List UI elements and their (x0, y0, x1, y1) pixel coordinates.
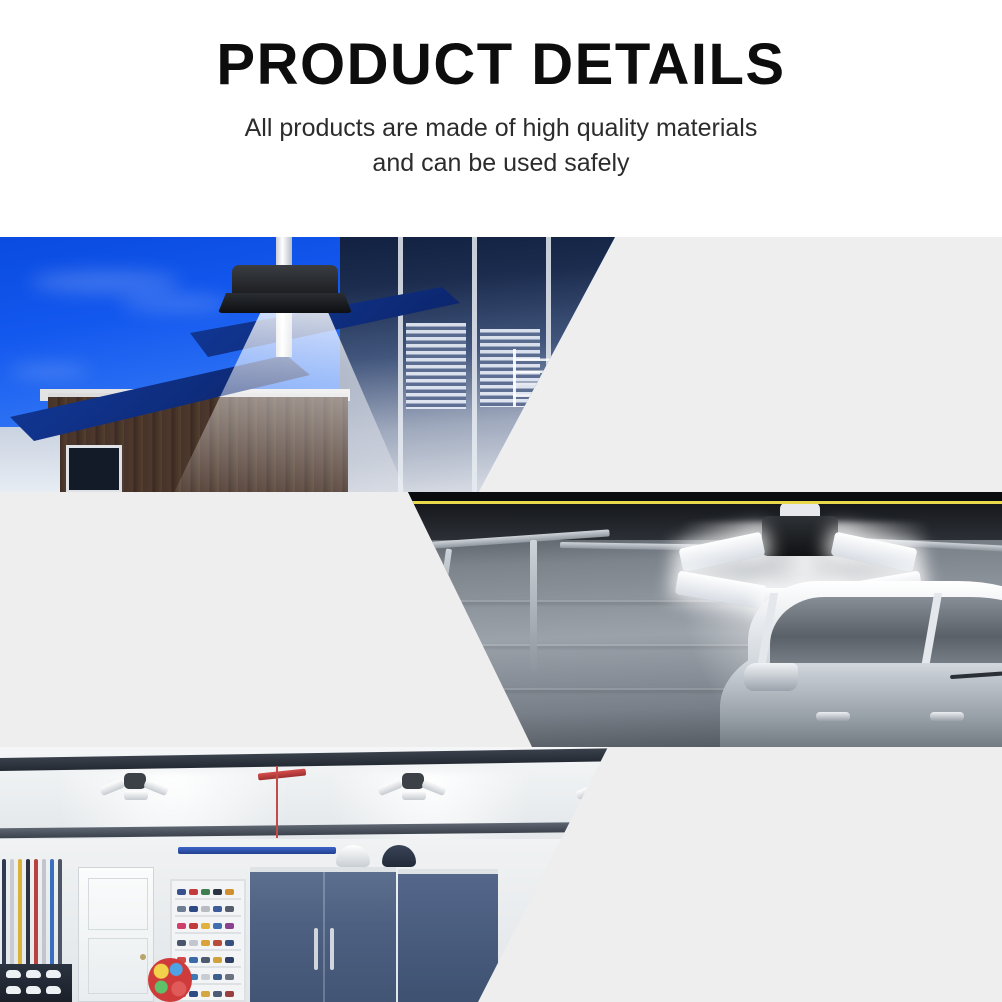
balcony-railing (513, 349, 636, 407)
scene-garage-with-car (380, 492, 1002, 747)
white-door (78, 867, 154, 1002)
foliage (570, 367, 622, 423)
blue-cabinet (398, 869, 498, 1002)
led-light-fixture (762, 516, 838, 556)
feature-photo-1 (0, 237, 640, 493)
scene-garage-interior (0, 747, 630, 1002)
parked-car (720, 557, 1002, 747)
led-light-fixture (580, 777, 630, 803)
led-light-fixture (232, 265, 338, 301)
led-light-fixture (382, 773, 444, 799)
blue-cabinet (250, 867, 396, 1002)
page-title: PRODUCT DETAILS (216, 34, 785, 97)
header-section: PRODUCT DETAILS All products are made of… (0, 0, 1002, 237)
led-light-fixture (104, 773, 166, 799)
top-dark-bar (380, 492, 1002, 501)
yellow-accent-line (380, 501, 1002, 504)
cloud-shape (10, 365, 90, 377)
blue-hanging-bar (178, 847, 336, 854)
doorway (66, 445, 122, 493)
scene-exterior-building (0, 237, 640, 493)
feature-photo-2 (380, 492, 1002, 747)
cloud-shape (120, 295, 230, 311)
header-subtitle-line-2: and can be used safely (372, 146, 629, 182)
feature-photo-3 (0, 747, 630, 1002)
header-subtitle-line-1: All products are made of high quality ma… (245, 111, 758, 147)
cloud-shape (30, 271, 180, 293)
feature-band-energy-saving: 1 ENERGY SAVING (0, 237, 1002, 493)
shoe-rack (0, 964, 72, 1002)
colorful-ball (148, 958, 192, 1002)
pull-cord (276, 766, 278, 838)
feature-band-longer-life: 2 LONGER LIFE (0, 492, 1002, 747)
feature-band-no-flicker: 3 NO FLICKER (0, 747, 1002, 1002)
